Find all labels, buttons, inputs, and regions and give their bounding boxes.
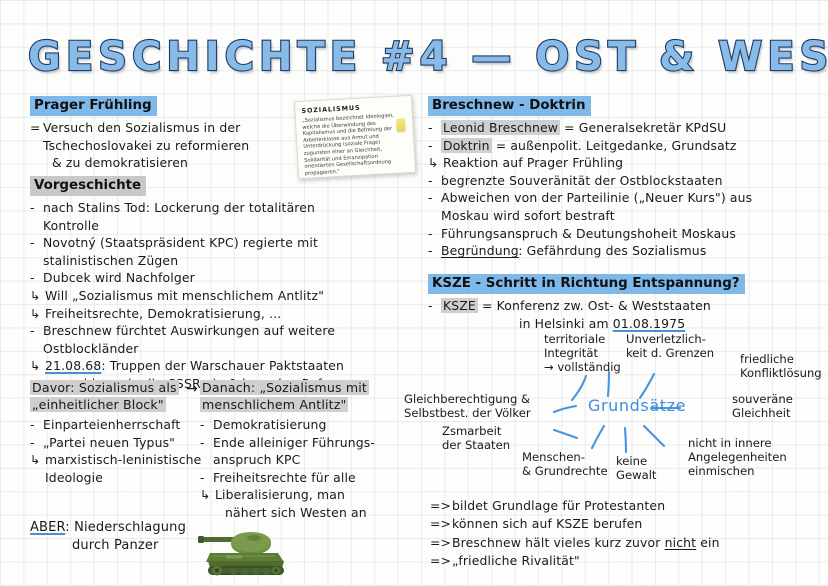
list-item: ↳ marxistisch-leninistische Ideologie [30, 451, 210, 486]
mindmap-node-menschen-grundrechte: Menschen- & Grundrechte [522, 450, 608, 478]
vorgeschichte-heading: Vorgeschichte [30, 176, 146, 196]
section-prager-fruehling: Prager Frühling = Versuch den Sozialismu… [30, 94, 300, 172]
list-item: => können sich auf KSZE berufen [430, 515, 820, 533]
node-line: keit d. Grenzen [626, 346, 714, 360]
node-line: territoriale [544, 332, 621, 346]
list-item: - KSZE = Konferenz zw. Ost- & Weststaate… [428, 297, 818, 332]
node-line: einmischen [688, 464, 787, 478]
list-item: = Versuch den Sozialismus in der [30, 119, 300, 137]
list-item-text: : Truppen der Warschauer Paktstaaten [101, 358, 344, 373]
list-item-text: Ende alleiniger Führungs- [213, 435, 375, 450]
breschnew-doktrin-list: - Leonid Breschnew = Generalsekretär KPd… [428, 119, 818, 260]
prager-fruehling-heading: Prager Frühling [30, 96, 157, 116]
section-ksze: KSZE - Schritt in Richtung Entspannung? … [428, 272, 818, 332]
compare-after-header: Danach: „Sozialismus mit menschlichem An… [200, 380, 390, 413]
node-line: Konfliktlösung [740, 366, 822, 380]
list-item: - Doktrin = außenpolit. Leitgedanke, Gru… [428, 137, 818, 155]
arrow-marker: => [430, 497, 451, 515]
aber-line1: : Niederschlagung [65, 520, 186, 535]
list-item: - Ende alleiniger Führungs- anspruch KPC [200, 434, 390, 469]
node-line: Integrität [544, 346, 621, 360]
arrow-sub-icon: ↳ [428, 154, 439, 172]
node-line: friedliche [740, 352, 822, 366]
list-item: => Breschnew hält vieles kurz zuvor nich… [430, 534, 820, 552]
arrow-marker: => [430, 534, 451, 552]
compare-after-header-line2: menschlichem Antlitz" [200, 397, 348, 412]
highlighted-term: Doktrin [441, 138, 492, 153]
node-line: Menschen- [522, 450, 608, 464]
list-item-cont: Ideologie [45, 469, 210, 487]
list-item-text: „Partei neuen Typus" [43, 435, 175, 450]
list-item: ↳ Reaktion auf Prager Frühling [428, 154, 818, 172]
list-item: - „Partei neuen Typus" [30, 434, 210, 452]
bullet-marker: - [200, 416, 205, 434]
list-item-text: Liberalisierung, man [215, 487, 345, 502]
bullet-marker: = [30, 119, 41, 137]
list-item-cont: stalinistischen Zügen [43, 252, 390, 270]
bullet-marker: - [30, 199, 35, 217]
compare-before-list: - Einparteienherrschaft - „Partei neuen … [30, 416, 210, 486]
bullet-marker: - [428, 119, 433, 137]
list-item: - Leonid Breschnew = Generalsekretär KPd… [428, 119, 818, 137]
list-item-text: marxistisch-leninistische [45, 452, 201, 467]
list-item-text: können sich auf KSZE berufen [452, 516, 642, 531]
ksze-list: - KSZE = Konferenz zw. Ost- & Weststaate… [428, 297, 818, 332]
node-line: → vollständig [544, 360, 621, 374]
compare-before: Davor: Sozialismus als „einheitlicher Bl… [30, 380, 210, 486]
mindmap-node-territoriale-integritaet: territoriale Integrität → vollständig [544, 332, 621, 374]
breschnew-doktrin-heading: Breschnew - Doktrin [428, 96, 591, 116]
compare-after-header-line1: Danach: „Sozialismus mit [200, 380, 369, 395]
list-item-text: Will „Sozialismus mit menschlichem Antli… [45, 288, 324, 303]
node-line: Gleichberechtigung & [404, 392, 531, 406]
node-line: nicht in innere [688, 436, 787, 450]
bullet-marker: - [428, 297, 433, 315]
node-line: der Staaten [442, 438, 510, 452]
list-item-text: = Konferenz zw. Ost- & Weststaaten [478, 298, 711, 313]
bullet-marker: - [30, 322, 35, 340]
section-conclusions: => bildet Grundlage für Protestanten => … [430, 497, 820, 571]
underlined-term: nicht [665, 535, 697, 550]
mindmap-node-unverletzlichkeit-grenzen: Unverletzlich- keit d. Grenzen [626, 332, 714, 360]
list-item-text: Dubcek wird Nachfolger [43, 270, 195, 285]
bullet-marker: - [428, 242, 433, 260]
list-item-cont: Ostblockländer [43, 340, 390, 358]
list-item-text: : Gefährdung des Sozialismus [518, 243, 706, 258]
compare-after-list: - Demokratisierung - Ende alleiniger Füh… [200, 416, 390, 522]
node-line: & Grundrechte [522, 464, 608, 478]
list-item-text: Breschnew fürchtet Auswirkungen auf weit… [43, 323, 335, 338]
ksze-heading: KSZE - Schritt in Richtung Entspannung? [428, 274, 745, 294]
node-line: Gewalt [616, 468, 656, 482]
bullet-marker: - [30, 234, 35, 252]
section-breschnew-doktrin: Breschnew - Doktrin - Leonid Breschnew =… [428, 94, 818, 260]
list-item: ↳ Will „Sozialismus mit menschlichem Ant… [30, 287, 390, 305]
section-vorgeschichte: Vorgeschichte - nach Stalins Tod: Locker… [30, 174, 390, 393]
bullet-marker: - [200, 434, 205, 452]
node-line: Angelegenheiten [688, 450, 787, 464]
list-item-cont: anspruch KPC [213, 451, 390, 469]
mindmap-node-friedliche-konfliktloesung: friedliche Konfliktlösung [740, 352, 822, 380]
note-pin-icon [396, 118, 406, 131]
underlined-term: Begründung [441, 243, 519, 258]
list-item-text: = Generalsekretär KPdSU [560, 120, 726, 135]
list-item: - Führungsanspruch & Deutungshoheit Mosk… [428, 225, 818, 243]
compare-before-header: Davor: Sozialismus als „einheitlicher Bl… [30, 380, 210, 413]
list-item-text: Freiheitsrechte für alle [213, 470, 356, 485]
arrow-sub-icon: ↳ [200, 486, 211, 504]
bullet-marker: - [428, 225, 433, 243]
arrow-sub-icon: ↳ [30, 287, 41, 305]
node-line: Unverletzlich- [626, 332, 714, 346]
list-item: & zu demokratisieren [30, 154, 300, 172]
node-line: Gleichheit [732, 406, 793, 420]
arrow-sub-icon: ↳ [30, 451, 41, 469]
list-item: - begrenzte Souveränität der Ostblocksta… [428, 172, 818, 190]
bullet-marker: - [428, 189, 433, 207]
list-item-text: Abweichen von der Parteilinie („Neuer Ku… [441, 190, 752, 205]
date-value: 21.08.68 [45, 358, 101, 373]
node-line: Zsmarbeit [442, 424, 510, 438]
list-item-text: „friedliche Rivalität" [452, 553, 580, 568]
mindmap-center-label: Grundsätze [588, 396, 686, 415]
compare-after: Danach: „Sozialismus mit menschlichem An… [200, 380, 390, 522]
list-item: - Einparteienherrschaft [30, 416, 210, 434]
mindmap-node-souveraene-gleichheit: souveräne Gleichheit [732, 392, 793, 420]
list-item-text: begrenzte Souveränität der Ostblockstaat… [441, 173, 723, 188]
node-line: keine [616, 454, 656, 468]
list-item-text: Einparteienherrschaft [43, 417, 180, 432]
arrow-sub-icon: ↳ [30, 305, 41, 323]
vorgeschichte-list: - nach Stalins Tod: Lockerung der totali… [30, 199, 390, 393]
list-item-text: Tschechoslovakei zu reformieren [43, 138, 249, 153]
tank-illustration [196, 524, 292, 582]
mindmap-node-keine-gewalt: keine Gewalt [616, 454, 656, 482]
list-item-text: Versuch den Sozialismus in der [43, 120, 240, 135]
list-item-text: & zu demokratisieren [52, 155, 188, 170]
list-item: - Abweichen von der Parteilinie („Neuer … [428, 189, 818, 224]
compare-before-header-line1: Davor: Sozialismus als [30, 380, 179, 395]
list-item-cont: nähert sich Westen an [215, 504, 390, 522]
list-item: - Novotný (Staatspräsident KPC) regierte… [30, 234, 390, 269]
list-item: - Freiheitsrechte für alle [200, 469, 390, 487]
arrow-marker: => [430, 515, 451, 533]
list-item-text: = außenpolit. Leitgedanke, Grundsatz [492, 138, 737, 153]
compare-arrow-icon: → [186, 381, 198, 399]
compare-before-header-line2: „einheitlicher Block" [30, 397, 166, 412]
sticky-note-sozialismus[interactable]: SOZIALISMUS „Sozialismus bezeichnet Ideo… [294, 95, 416, 179]
bullet-marker: - [428, 137, 433, 155]
list-item-text: bildet Grundlage für Protestanten [452, 498, 665, 513]
highlighted-term: KSZE [441, 298, 478, 313]
list-item: - Demokratisierung [200, 416, 390, 434]
sticky-note-body: „Sozialismus bezeichnet Ideologien, welc… [302, 112, 409, 177]
tank-icon [196, 524, 292, 582]
arrow-marker: => [430, 552, 451, 570]
node-line: souveräne [732, 392, 793, 406]
bullet-marker: - [30, 434, 35, 452]
list-item: => bildet Grundlage für Protestanten [430, 497, 820, 515]
list-item-text: Novotný (Staatspräsident KPC) regierte m… [43, 235, 318, 250]
ksze-line2-text: in Helsinki am [519, 316, 613, 331]
list-item: - Dubcek wird Nachfolger [30, 269, 390, 287]
list-item: Tschechoslovakei zu reformieren [30, 137, 300, 155]
list-item-text: nach Stalins Tod: Lockerung der totalitä… [43, 200, 315, 215]
list-item-cont: Moskau wird sofort bestraft [441, 207, 818, 225]
mindmap-node-zusammenarbeit-staaten: Zsmarbeit der Staaten [442, 424, 510, 452]
notes-sheet: GESCHICHTE #4 — OST & WEST Prager Frühli… [0, 0, 828, 586]
list-item-text: Demokratisierung [213, 417, 327, 432]
bullet-marker: - [200, 469, 205, 487]
list-item-text: Reaktion auf Prager Frühling [443, 155, 623, 170]
list-item: => „friedliche Rivalität" [430, 552, 820, 570]
list-item: - Begründung: Gefährdung des Sozialismus [428, 242, 818, 260]
list-item-text: Führungsanspruch & Deutungshoheit Moskau… [441, 226, 736, 241]
highlighted-term: Leonid Breschnew [441, 120, 560, 135]
mindmap-node-gleichberechtigung-selbstbestimmung: Gleichberechtigung & Selbstbest. der Völ… [404, 392, 531, 420]
list-item-text: Breschnew hält vieles kurz zuvor nicht e… [452, 535, 720, 550]
list-item: - Breschnew fürchtet Auswirkungen auf we… [30, 322, 390, 357]
ksze-date: 01.08.1975 [613, 316, 685, 331]
list-item: - nach Stalins Tod: Lockerung der totali… [30, 199, 390, 234]
prager-fruehling-list: = Versuch den Sozialismus in der Tschech… [30, 119, 300, 172]
arrow-sub-icon: ↳ [30, 357, 41, 375]
list-item: ↳ Freiheitsrechte, Demokratisierung, ... [30, 305, 390, 323]
bullet-marker: - [30, 416, 35, 434]
conclusions-list: => bildet Grundlage für Protestanten => … [430, 497, 820, 571]
mindmap-node-nichteinmischung: nicht in innere Angelegenheiten einmisch… [688, 436, 787, 478]
list-item-cont: Kontrolle [43, 217, 390, 235]
page-title: GESCHICHTE #4 — OST & WEST [28, 34, 808, 80]
list-item: ↳ Liberalisierung, man nähert sich Weste… [200, 486, 390, 521]
bullet-marker: - [30, 269, 35, 287]
bullet-marker: - [428, 172, 433, 190]
mindmap-grundsaetze: Grundsätze territoriale Integrität → vol… [404, 330, 828, 490]
node-line: Selbstbest. der Völker [404, 406, 531, 420]
aber-label: ABER [30, 520, 65, 535]
list-item-text: Freiheitsrechte, Demokratisierung, ... [45, 306, 281, 321]
